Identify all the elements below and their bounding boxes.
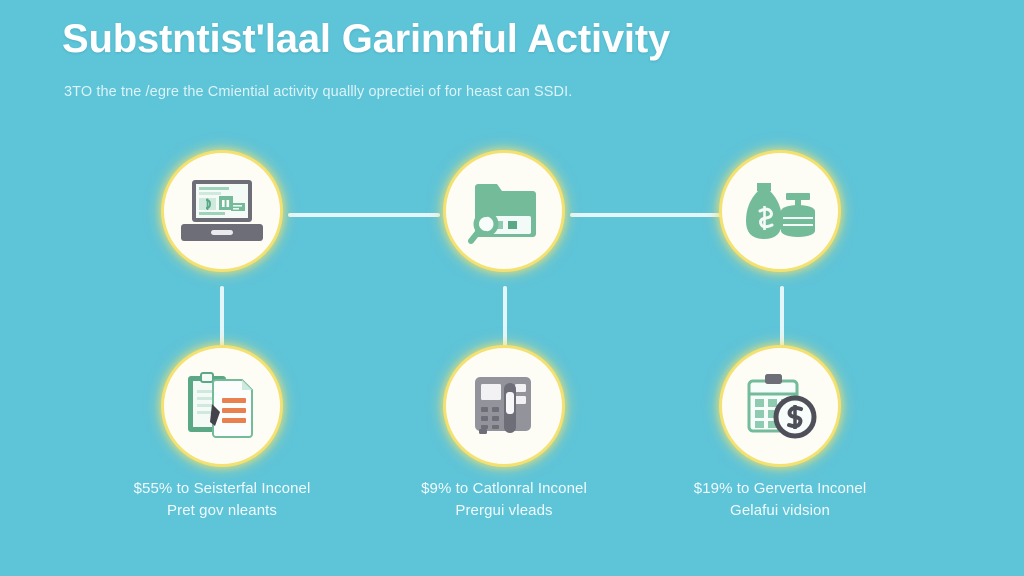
node-calendar-coin-circle[interactable]	[722, 348, 838, 464]
node-folder-search[interactable]	[389, 153, 619, 283]
node-clipboard-docs-caption: $55% to Seisterfal Inconel Pret gov nlea…	[107, 478, 337, 522]
caption-line-2: Prergui vleads	[389, 500, 619, 522]
node-calendar-coin-caption: $19% to Gerverta Inconel Gelafui vidsion	[665, 478, 895, 522]
connector-left-column	[220, 286, 224, 346]
folder-magnifier-icon	[467, 176, 541, 246]
node-folder-search-circle[interactable]	[446, 153, 562, 269]
node-laptop-circle[interactable]	[164, 153, 280, 269]
caption-line-2: Pret gov nleants	[107, 500, 337, 522]
clipboard-documents-icon	[184, 370, 260, 442]
node-calculator[interactable]: $9% to Catlonral Inconel Prergui vleads	[389, 348, 619, 522]
node-calculator-circle[interactable]	[446, 348, 562, 464]
icon-circle[interactable]	[446, 348, 562, 464]
infographic-canvas: Substntist'laal Garinnful Activity 3TO t…	[0, 0, 1024, 576]
money-bag-coins-icon	[742, 177, 818, 245]
connector-right-column	[780, 286, 784, 346]
caption-line-2: Gelafui vidsion	[665, 500, 895, 522]
icon-circle[interactable]	[446, 153, 562, 269]
calendar-dollar-icon	[743, 371, 817, 441]
node-calculator-caption: $9% to Catlonral Inconel Prergui vleads	[389, 478, 619, 522]
icon-circle[interactable]	[164, 153, 280, 269]
laptop-dollar-icon	[181, 178, 263, 244]
node-calendar-coin[interactable]: $19% to Gerverta Inconel Gelafui vidsion	[665, 348, 895, 522]
node-clipboard-docs-circle[interactable]	[164, 348, 280, 464]
node-money-bag[interactable]	[665, 153, 895, 283]
caption-line-1: $55% to Seisterfal Inconel	[134, 480, 311, 497]
caption-line-1: $19% to Gerverta Inconel	[694, 480, 867, 497]
calculator-icon	[471, 373, 537, 439]
page-subtitle: 3TO the tne /egre the Cmiential activity…	[64, 84, 572, 100]
icon-circle[interactable]	[722, 348, 838, 464]
node-clipboard-docs[interactable]: $55% to Seisterfal Inconel Pret gov nlea…	[107, 348, 337, 522]
icon-circle[interactable]	[164, 348, 280, 464]
node-laptop[interactable]	[107, 153, 337, 283]
page-title: Substntist'laal Garinnful Activity	[62, 17, 670, 61]
connector-middle-column	[503, 286, 507, 346]
node-money-bag-circle[interactable]	[722, 153, 838, 269]
caption-line-1: $9% to Catlonral Inconel	[421, 480, 587, 497]
icon-circle[interactable]	[722, 153, 838, 269]
